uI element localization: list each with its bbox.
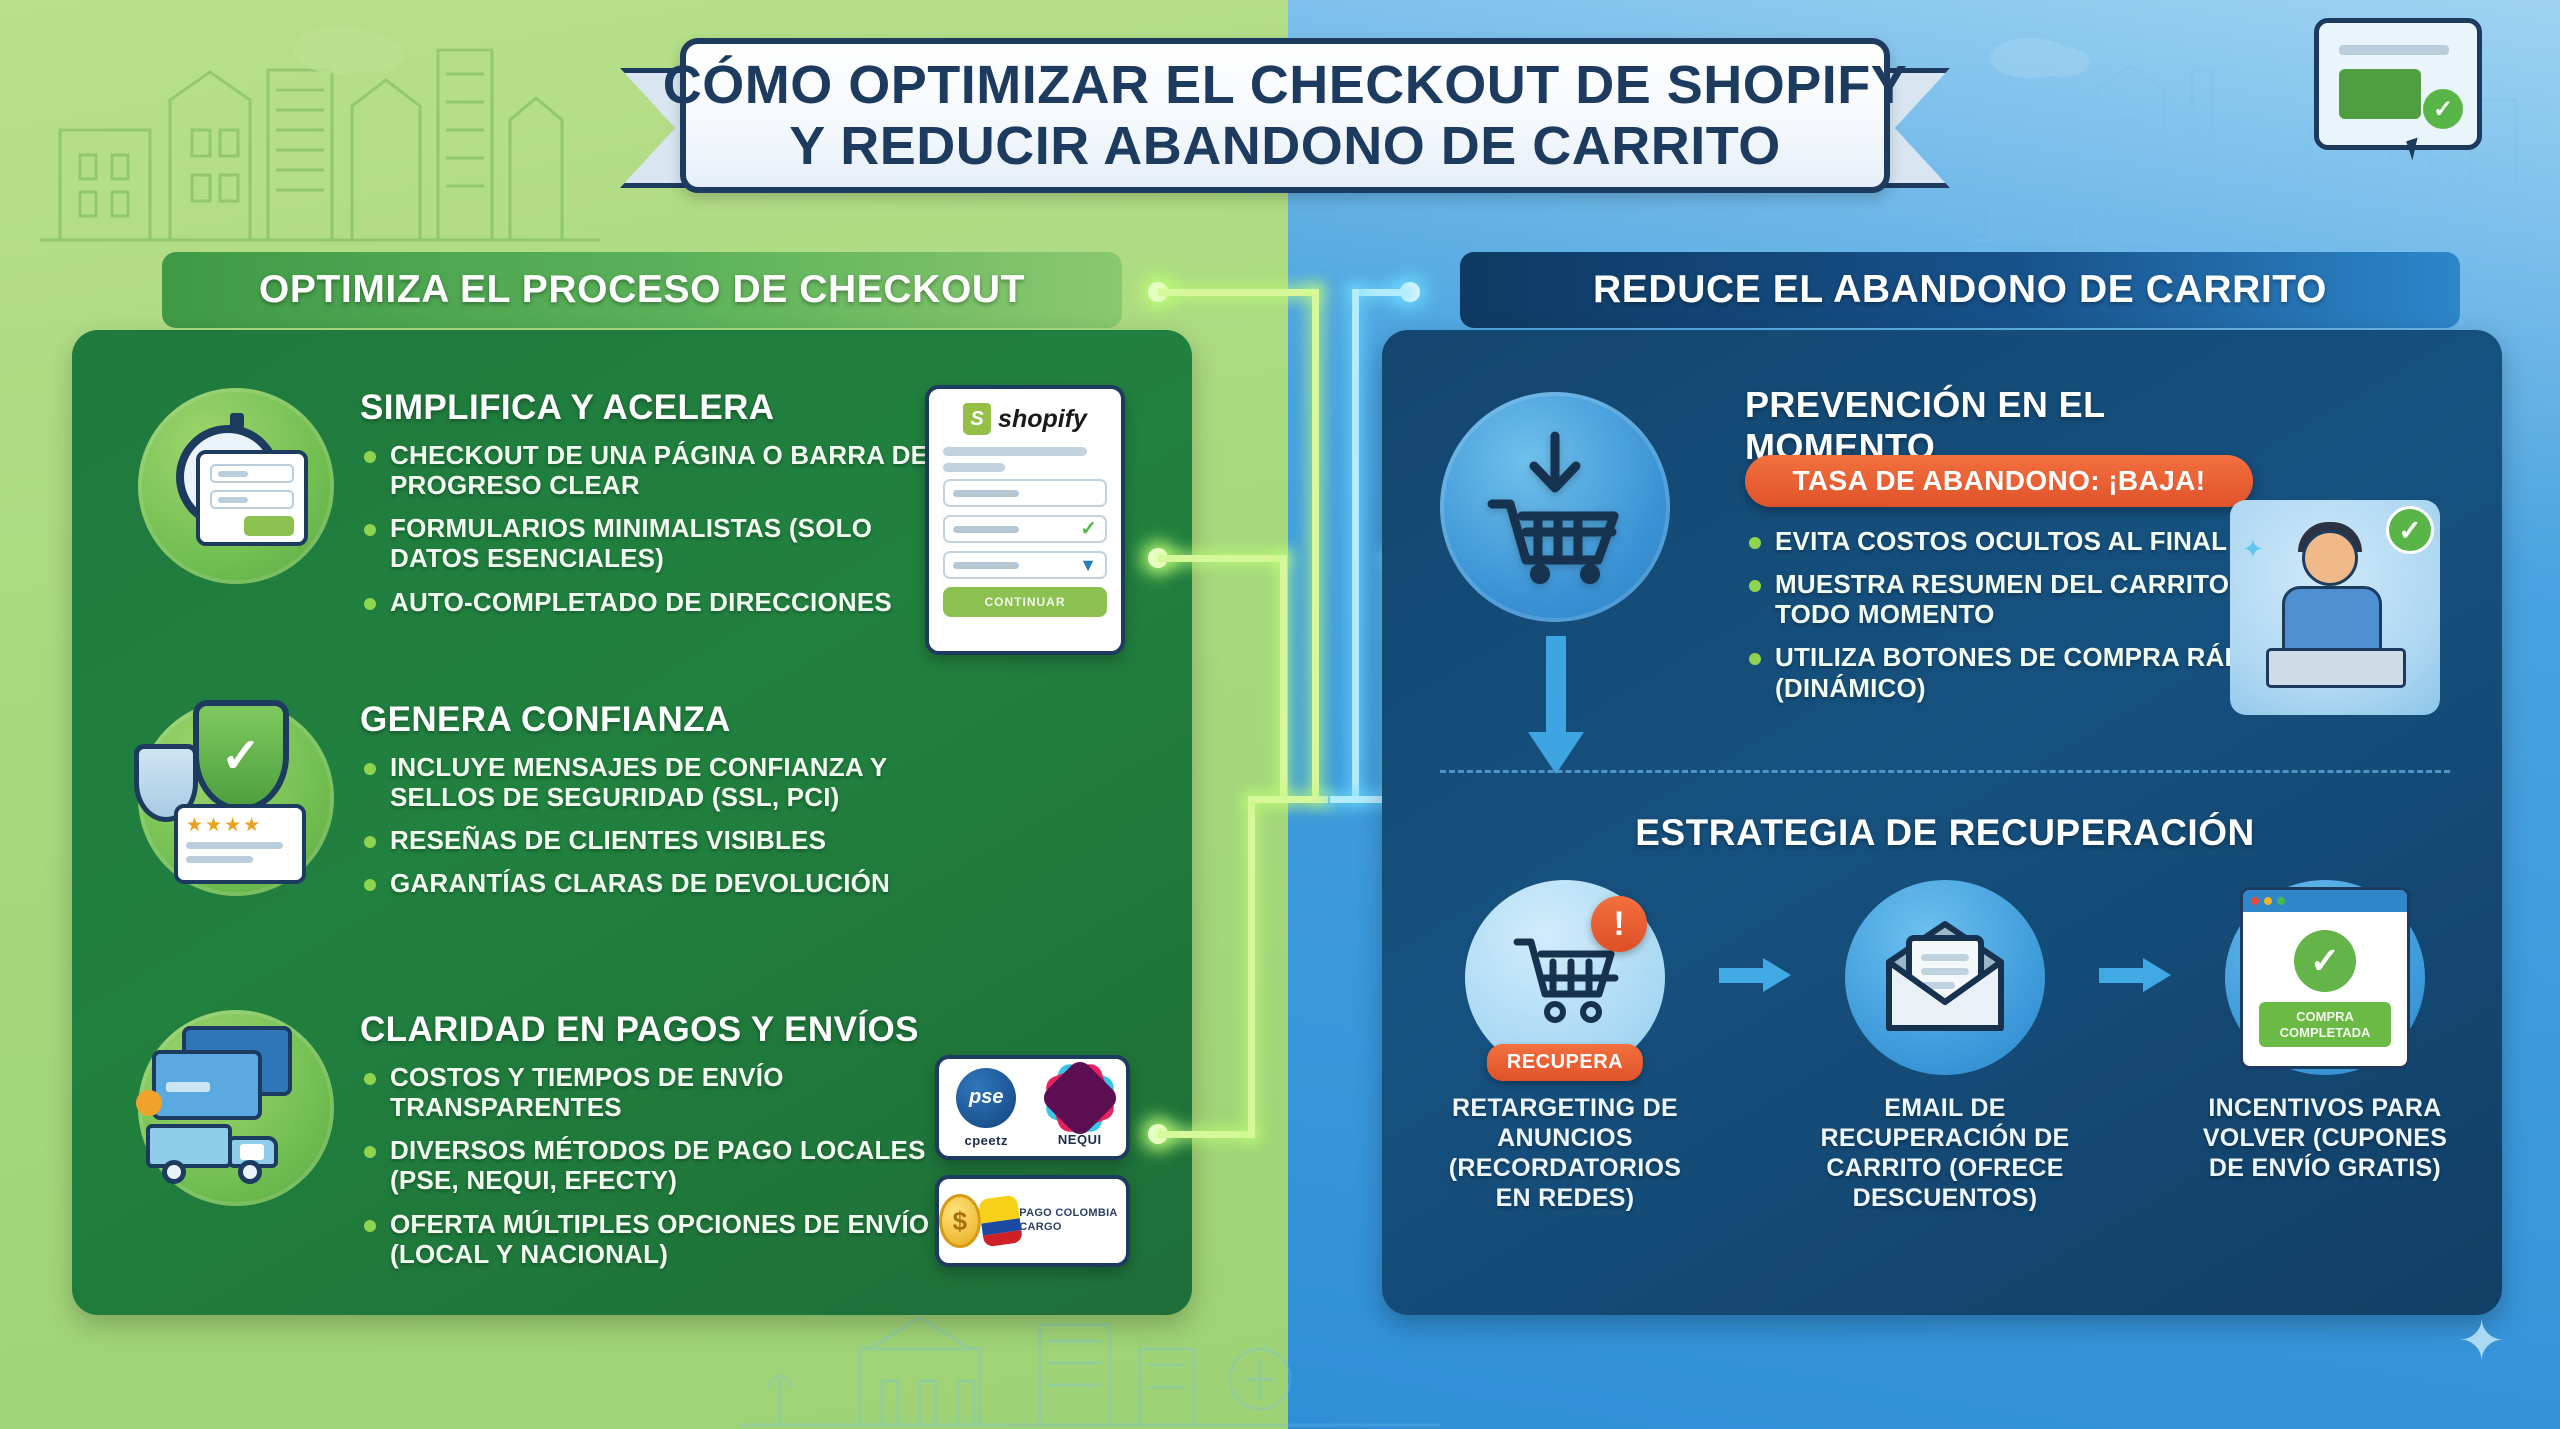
check-icon: ✓	[1080, 519, 1097, 539]
section-title: CLARIDAD EN PAGOS Y ENVÍOS	[360, 1010, 958, 1050]
section-title: GENERA CONFIANZA	[360, 700, 958, 740]
status-badge-tasa-abandono: TASA DE ABANDONO: ¡BAJA!	[1745, 455, 2253, 507]
section-bullets: INCLUYE MENSAJES DE CONFIANZA Y SELLOS D…	[360, 752, 958, 899]
shield-check-icon: ✓	[193, 700, 289, 812]
happy-customer-illustration: ✦ ✓	[2230, 500, 2440, 715]
form-mock-icon	[196, 450, 308, 546]
bullet-item: COSTOS Y TIEMPOS DE ENVÍO TRANSPARENTES	[360, 1062, 958, 1122]
right-panel-header: REDUCE EL ABANDONO DE CARRITO	[1460, 252, 2460, 328]
left-panel-header: OPTIMIZA EL PROCESO DE CHECKOUT	[162, 252, 1122, 328]
bullet-item: AUTO-COMPLETADO DE DIRECCIONES	[360, 587, 958, 617]
flow-step-retargeting: ! RECUPERA RETARGETING DE ANUNCIOS (RECO…	[1440, 880, 1690, 1213]
skeleton-bar	[943, 463, 1005, 472]
arrow-right-icon	[2099, 958, 2171, 992]
bullet-item: DIVERSOS MÉTODOS DE PAGO LOCALES (PSE, N…	[360, 1135, 958, 1195]
chip-compra-completada: COMPRA COMPLETADA	[2259, 1002, 2391, 1047]
payment-logos-card-1: pse cpeetz NEQUI	[935, 1055, 1130, 1160]
bullet-item: OFERTA MÚLTIPLES OPCIONES DE ENVÍO (LOCA…	[360, 1209, 958, 1269]
section-title: SIMPLIFICA Y ACELERA	[360, 388, 958, 428]
mock-checkout-button[interactable]: CONTINUAR	[943, 587, 1107, 617]
close-icon	[2251, 897, 2259, 905]
laptop-icon	[2266, 648, 2406, 688]
sparkle-icon: ✦	[2242, 534, 2264, 565]
recovery-flow: ! RECUPERA RETARGETING DE ANUNCIOS (RECO…	[1440, 880, 2450, 1300]
bullet-item: RESEÑAS DE CLIENTES VISIBLES	[360, 825, 958, 855]
head	[2302, 530, 2358, 586]
card-line	[2339, 45, 2449, 55]
section-divider	[1440, 770, 2450, 773]
delivery-truck-icon	[146, 1118, 286, 1184]
flow-step-label: RETARGETING DE ANUNCIOS (RECORDATORIOS E…	[1440, 1093, 1690, 1213]
colombia-flag-logo	[977, 1195, 1022, 1248]
title-line-2: Y REDUCIR ABANDONO DE CARRITO	[789, 116, 1781, 176]
card-truck-icon	[138, 1010, 334, 1206]
cart-alert-icon: ! RECUPERA	[1465, 880, 1665, 1075]
chip-recupera: RECUPERA	[1487, 1044, 1643, 1081]
shopping-cart-download-icon	[1440, 392, 1670, 622]
flow-step-incentivos: ✓ COMPRA COMPLETADA INCENTIVOS PARA VOLV…	[2200, 880, 2450, 1183]
bullet-item: GARANTÍAS CLARAS DE DEVOLUCIÓN	[360, 868, 958, 898]
nequi-logo	[1051, 1069, 1109, 1127]
credit-card-front-icon	[152, 1050, 262, 1120]
section-bullets: CHECKOUT DE UNA PÁGINA O BARRA DE PROGRE…	[360, 440, 958, 617]
stopwatch-form-icon	[138, 388, 334, 584]
shopify-bag-icon	[963, 403, 991, 435]
card-block	[2339, 69, 2421, 119]
mock-field-valid: ✓	[943, 515, 1107, 543]
check-icon: ✓	[2294, 930, 2356, 992]
shopify-wordmark: shopify	[998, 405, 1087, 434]
payment-logos-card-2: $ PAGO COLOMBIA CARGO	[935, 1175, 1130, 1267]
minimize-icon	[2264, 897, 2272, 905]
infographic-canvas: ✓ CÓMO OPTIMIZAR EL CHECKOUT DE SHOPIFY …	[0, 0, 2560, 1429]
pse-logo: pse	[956, 1068, 1016, 1128]
sparkle-icon: ✦	[2458, 1308, 2505, 1374]
section-bullets: EVITA COSTOS OCULTOS AL FINAL MUESTRA RE…	[1745, 526, 2305, 716]
bullet-item: MUESTRA RESUMEN DEL CARRITO EN TODO MOME…	[1745, 569, 2305, 629]
maximize-icon	[2277, 897, 2285, 905]
nequi-logo-group: NEQUI	[1051, 1069, 1109, 1147]
review-bubble-icon: ★★★★	[174, 804, 306, 884]
recovery-section-title: ESTRATEGIA DE RECUPERACIÓN	[1440, 812, 2450, 854]
bullet-item: CHECKOUT DE UNA PÁGINA O BARRA DE PROGRE…	[360, 440, 958, 500]
left-section-confianza: ✓ ★★★★ GENERA CONFIANZA INCLUYE MENSAJES…	[138, 700, 958, 912]
pse-label: cpeetz	[965, 1133, 1008, 1148]
flow-step-email: EMAIL DE RECUPERACIÓN DE CARRITO (OFRECE…	[1820, 880, 2070, 1213]
torso	[2282, 586, 2382, 656]
shopify-checkout-mock: shopify ✓ ▼ CONTINUAR	[925, 385, 1125, 655]
card-chip-icon	[136, 1090, 162, 1116]
alert-icon: !	[1591, 896, 1647, 952]
left-section-simplifica: SIMPLIFICA Y ACELERA CHECKOUT DE UNA PÁG…	[138, 388, 958, 630]
skeleton-bar	[943, 447, 1087, 456]
browser-success-icon: ✓ COMPRA COMPLETADA	[2225, 880, 2425, 1075]
coin-logo: $	[939, 1194, 981, 1248]
shopify-logo: shopify	[943, 403, 1107, 435]
chevron-down-icon: ▼	[1079, 556, 1097, 574]
title-ribbon: CÓMO OPTIMIZAR EL CHECKOUT DE SHOPIFY Y …	[620, 28, 1950, 208]
down-arrow-icon	[1528, 636, 1584, 776]
browser-titlebar	[2243, 890, 2407, 912]
bullet-item: INCLUYE MENSAJES DE CONFIANZA Y SELLOS D…	[360, 752, 958, 812]
mock-select: ▼	[943, 551, 1107, 579]
star-rating-icon: ★★★★	[186, 816, 294, 835]
pse-logo-group: pse cpeetz	[956, 1068, 1016, 1148]
shield-review-icon: ✓ ★★★★	[138, 700, 334, 896]
bullet-item: UTILIZA BOTONES DE COMPRA RÁPIDA (DINÁMI…	[1745, 642, 2305, 702]
mock-field	[943, 479, 1107, 507]
title-line-1: CÓMO OPTIMIZAR EL CHECKOUT DE SHOPIFY	[663, 55, 1908, 115]
check-icon: ✓	[2386, 506, 2434, 554]
section-bullets: COSTOS Y TIEMPOS DE ENVÍO TRANSPARENTES …	[360, 1062, 958, 1269]
flow-step-label: EMAIL DE RECUPERACIÓN DE CARRITO (OFRECE…	[1820, 1093, 2070, 1213]
city-skyline-left-icon	[40, 10, 600, 250]
checkout-card-illustration: ✓	[2314, 18, 2482, 150]
browser-window-mock: ✓ COMPRA COMPLETADA	[2240, 887, 2410, 1069]
flow-step-label: INCENTIVOS PARA VOLVER (CUPONES DE ENVÍO…	[2200, 1093, 2450, 1183]
pago-colombia-label: PAGO COLOMBIA CARGO	[1019, 1207, 1126, 1235]
title-plate: CÓMO OPTIMIZAR EL CHECKOUT DE SHOPIFY Y …	[680, 38, 1890, 193]
bullet-item: FORMULARIOS MINIMALISTAS (SOLO DATOS ESE…	[360, 513, 958, 573]
arrow-right-icon	[1719, 958, 1791, 992]
check-icon: ✓	[2423, 89, 2463, 129]
bullet-item: EVITA COSTOS OCULTOS AL FINAL	[1745, 526, 2305, 556]
left-section-pagos: CLARIDAD EN PAGOS Y ENVÍOS COSTOS Y TIEM…	[138, 1010, 958, 1282]
email-envelope-icon	[1845, 880, 2045, 1075]
